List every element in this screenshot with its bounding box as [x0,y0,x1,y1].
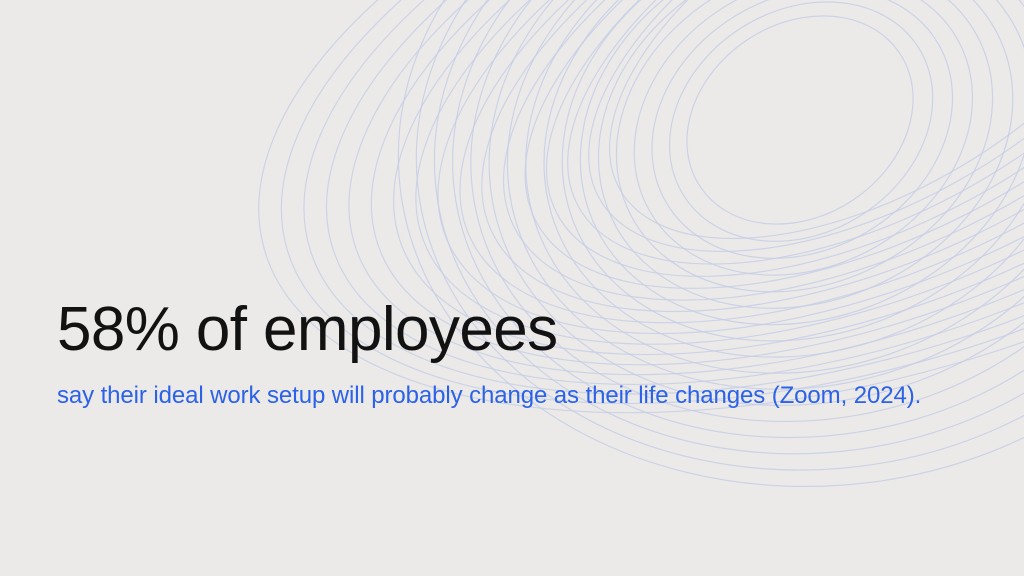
subtitle-text: say their ideal work setup will probably… [57,364,937,412]
decorative-loop [624,0,977,290]
decorative-loop [225,0,1024,519]
slide-canvas: 58% of employees say their ideal work se… [0,0,1024,576]
decorative-loop [291,0,1024,486]
decorative-loop [384,0,1024,509]
spirograph-loops-graphic [0,0,1024,576]
decorative-loop [581,0,1024,333]
decorative-loop [203,0,1024,529]
decorative-loop [407,0,1024,492]
decorative-loop [395,0,1024,501]
decorative-loop [602,0,1002,312]
decorative-loop [375,0,1024,514]
decorative-loop-group [182,0,1024,538]
decorative-loop [545,0,1024,320]
decorative-loop [522,0,1024,338]
decorative-loop [647,0,953,267]
text-block: 58% of employees say their ideal work se… [57,296,957,412]
decorative-loop [182,0,1024,538]
page-title: 58% of employees [57,296,957,364]
decorative-loop [247,0,1024,508]
decorative-loop [269,0,1024,497]
